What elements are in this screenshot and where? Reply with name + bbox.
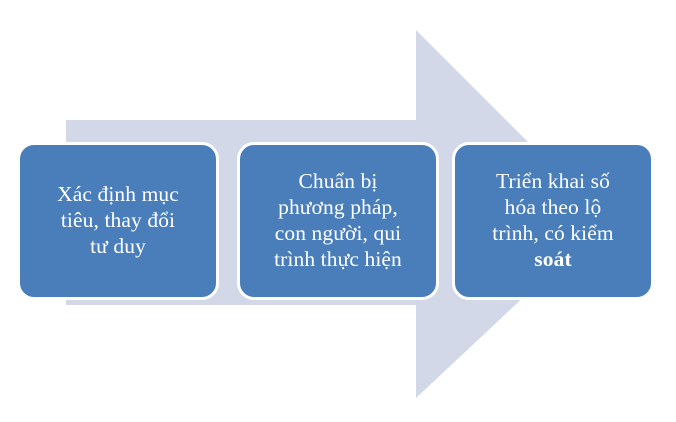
process-step-1-label: Xác định mục tiêu, thay đổi tư duy (28, 182, 208, 259)
step-3-line-4: soát (534, 247, 571, 271)
process-step-2-label: Chuẩn bị phương pháp, con người, qui trì… (248, 169, 428, 272)
process-step-3-label: Triển khai số hóa theo lộ trình, có kiểm… (463, 169, 643, 272)
process-step-2[interactable]: Chuẩn bị phương pháp, con người, qui trì… (237, 142, 439, 300)
process-step-1[interactable]: Xác định mục tiêu, thay đổi tư duy (17, 142, 219, 300)
diagram-canvas: Xác định mục tiêu, thay đổi tư duy Chuẩn… (0, 0, 676, 422)
step-2-line-2: phương pháp, (278, 195, 398, 219)
step-2-line-4: trình thực hiện (274, 247, 402, 271)
step-3-line-2: hóa theo lộ (505, 195, 602, 219)
step-2-line-1: Chuẩn bị (298, 169, 377, 193)
process-step-3[interactable]: Triển khai số hóa theo lộ trình, có kiểm… (452, 142, 654, 300)
step-3-line-3: trình, có kiểm (492, 221, 613, 245)
step-2-line-3: con người, qui (275, 221, 402, 245)
step-1-line-3: tư duy (90, 234, 146, 258)
step-1-line-1: Xác định mục (57, 182, 179, 206)
step-1-line-2: tiêu, thay đổi (61, 208, 175, 232)
step-3-line-1: Triển khai số (496, 169, 610, 193)
